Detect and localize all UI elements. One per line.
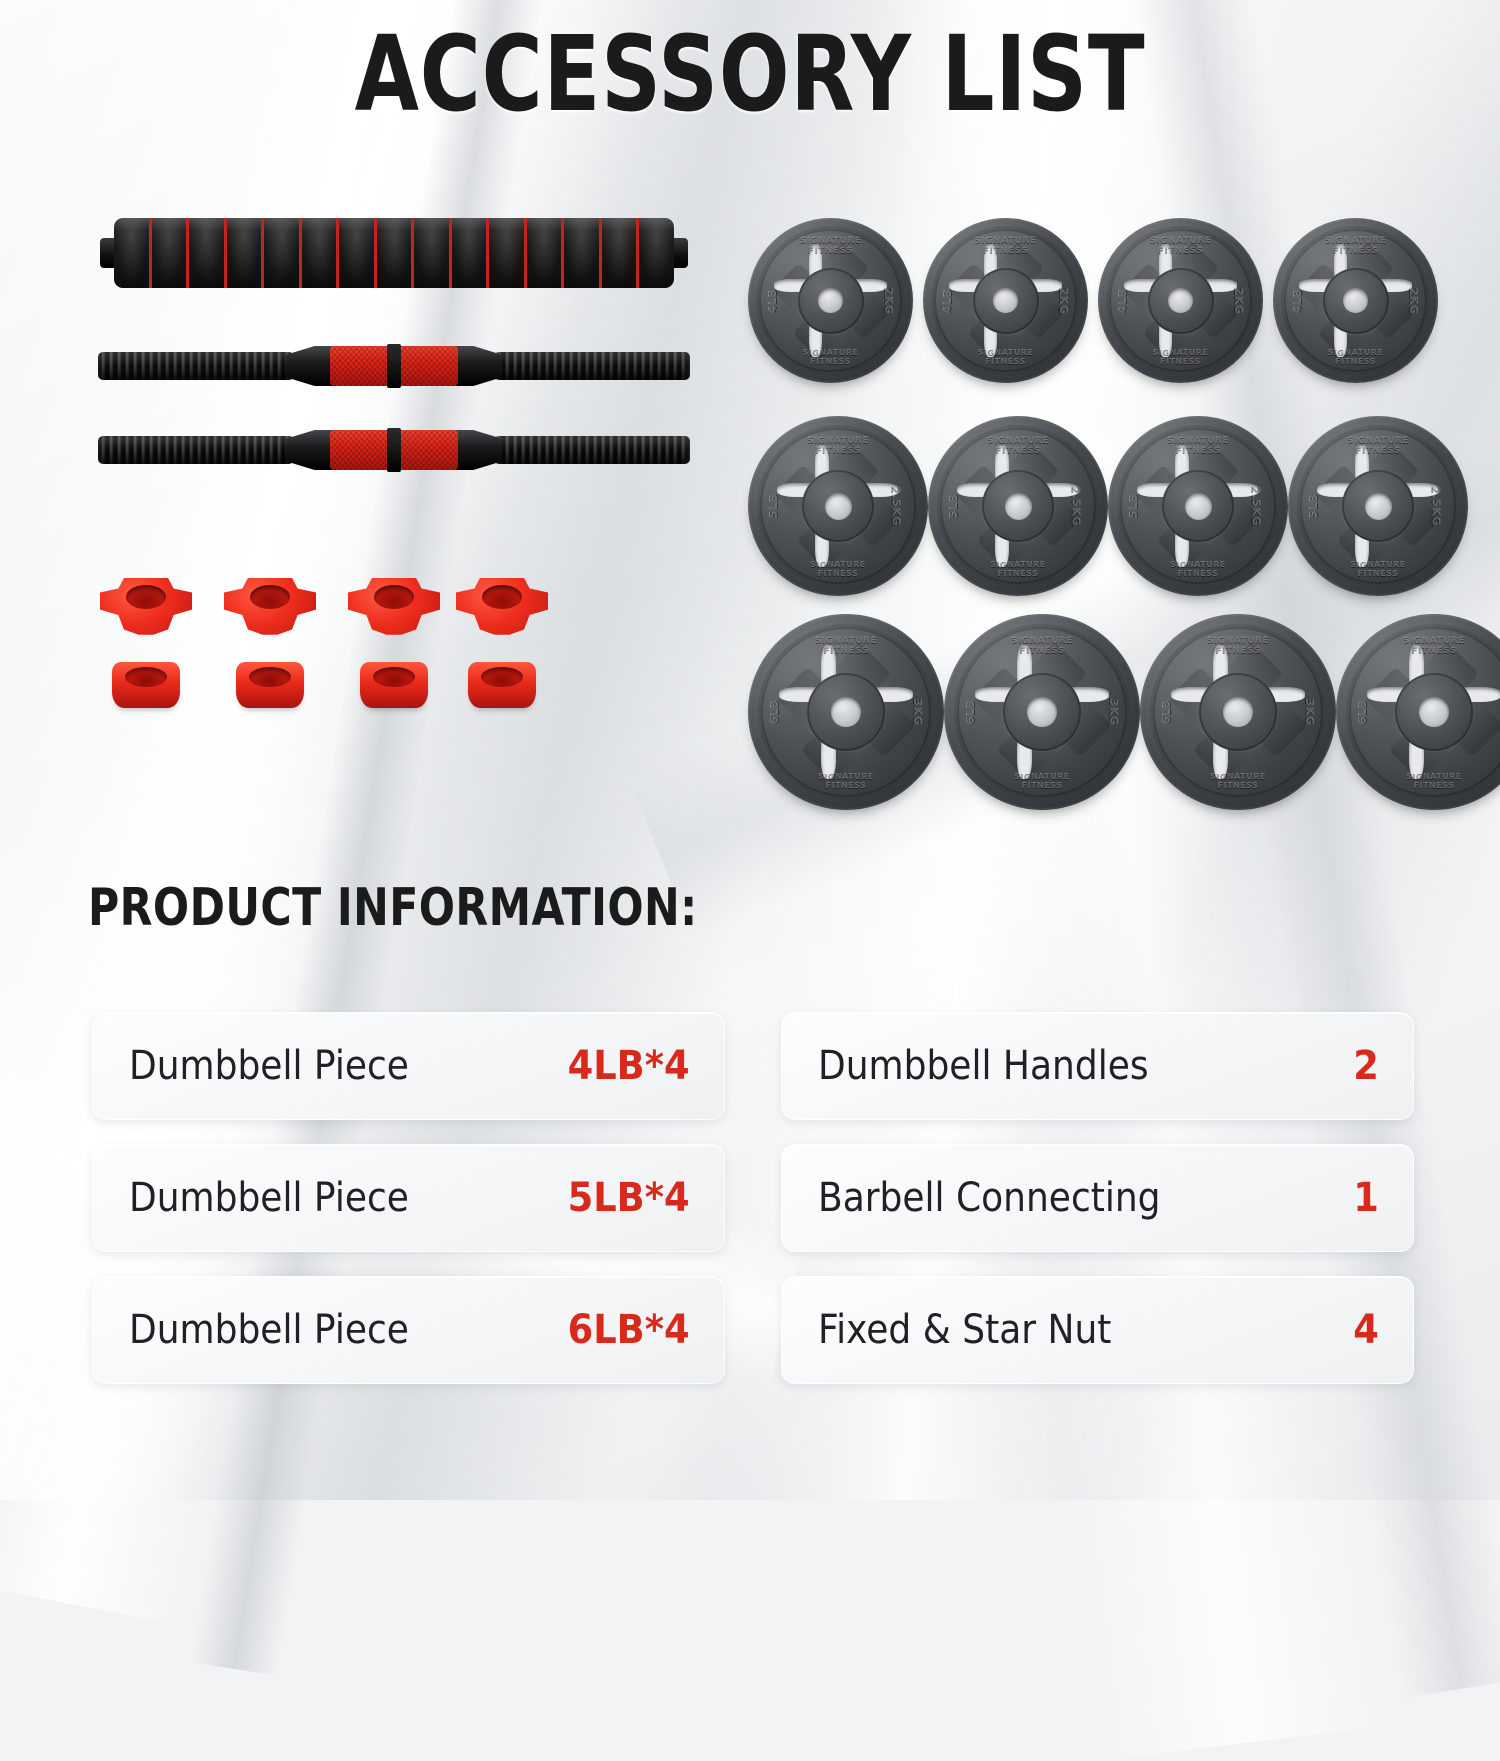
connecting-bar-segment [227, 218, 265, 288]
plate-weight-kg: 2.5KG [1249, 486, 1262, 526]
plate-weight-lb: 5LB [1126, 494, 1139, 519]
plate-center-bore [1005, 493, 1032, 520]
plate-center-bore [825, 493, 852, 520]
weight-plate: SIGNATUREFITNESSSIGNATUREFITNESS5LB2.5KG [928, 416, 1108, 596]
connecting-bar-segment [264, 218, 302, 288]
weight-plate: SIGNATUREFITNESSSIGNATUREFITNESS5LB2.5KG [748, 416, 928, 596]
product-info-label: Dumbbell Piece [129, 1043, 409, 1089]
plate-brand-text: SIGNATUREFITNESS [1140, 772, 1336, 790]
fixed-nut [360, 662, 428, 708]
plate-brand-text: SIGNATUREFITNESS [1108, 560, 1288, 578]
weight-plate-row: SIGNATUREFITNESSSIGNATUREFITNESS4LB2KGSI… [748, 218, 1438, 383]
plate-brand-text: SIGNATUREFITNESS [748, 436, 928, 457]
product-info-card: Dumbbell Piece4LB*4 [92, 1012, 725, 1120]
page-title: ACCESSORY LIST [150, 22, 1350, 126]
fixed-nut [112, 662, 180, 708]
product-information-grid: Dumbbell Piece4LB*4Dumbbell Handles2Dumb… [92, 1012, 1414, 1384]
plate-center-bore [831, 697, 860, 726]
product-info-card: Dumbbell Piece5LB*4 [92, 1144, 725, 1252]
plate-weight-lb: 6LB [964, 700, 977, 725]
plate-center-bore [1168, 288, 1193, 313]
plate-brand-text: SIGNATUREFITNESS [1273, 348, 1438, 366]
product-info-card: Dumbbell Handles2 [781, 1012, 1414, 1120]
product-info-label: Fixed & Star Nut [818, 1307, 1111, 1353]
dumbbell-handle [98, 426, 690, 474]
plate-brand-text: SIGNATUREFITNESS [748, 772, 944, 790]
product-info-card: Dumbbell Piece6LB*4 [92, 1276, 725, 1384]
plate-brand-text: SIGNATUREFITNESS [748, 560, 928, 578]
weight-plate: SIGNATUREFITNESSSIGNATUREFITNESS4LB2KG [1098, 218, 1263, 383]
plate-brand-text: SIGNATUREFITNESS [923, 236, 1088, 257]
plate-center-bore [1343, 288, 1368, 313]
plate-weight-lb: 6LB [768, 700, 781, 725]
connecting-bar-segment [302, 218, 340, 288]
fixed-nut [468, 662, 536, 708]
plate-weight-kg: 2.5KG [889, 486, 902, 526]
product-info-value: 4LB*4 [568, 1043, 690, 1089]
plate-weight-kg: 2KG [1232, 287, 1245, 314]
fixed-nut-bore [373, 667, 415, 687]
plate-weight-lb: 6LB [1160, 700, 1173, 725]
plate-center-bore [1365, 493, 1392, 520]
handle-center-band [387, 428, 401, 472]
star-nut [224, 578, 316, 644]
weight-plate: SIGNATUREFITNESSSIGNATUREFITNESS6LB3KG [1336, 614, 1500, 810]
plate-center-bore [1185, 493, 1212, 520]
connecting-bar-segment [527, 218, 565, 288]
plate-center-bore [993, 288, 1018, 313]
weight-plates-grid: SIGNATUREFITNESSSIGNATUREFITNESS4LB2KGSI… [748, 218, 1438, 818]
product-info-label: Dumbbell Piece [129, 1307, 409, 1353]
plate-weight-lb: 5LB [1306, 494, 1319, 519]
plate-weight-kg: 2.5KG [1429, 486, 1442, 526]
connecting-bar-segment [452, 218, 490, 288]
product-info-value: 4 [1353, 1307, 1379, 1353]
plate-brand-text: SIGNATUREFITNESS [1098, 348, 1263, 366]
plate-weight-lb: 6LB [1356, 700, 1369, 725]
product-info-card: Fixed & Star Nut4 [781, 1276, 1414, 1384]
plate-center-bore [1027, 697, 1056, 726]
plate-brand-text: SIGNATUREFITNESS [1336, 636, 1500, 657]
connecting-bar-segment [114, 218, 152, 288]
product-information-heading: PRODUCT INFORMATION: [88, 878, 698, 938]
plate-weight-kg: 3KG [1106, 699, 1119, 726]
plate-brand-text: SIGNATUREFITNESS [1140, 636, 1336, 657]
nuts-group [100, 578, 570, 708]
star-nut [100, 578, 192, 644]
connecting-bar-segment [564, 218, 602, 288]
weight-plate: SIGNATUREFITNESSSIGNATUREFITNESS5LB2.5KG [1108, 416, 1288, 596]
connecting-bar-segment [489, 218, 527, 288]
product-info-label: Barbell Connecting [818, 1175, 1161, 1221]
plate-brand-text: SIGNATUREFITNESS [1108, 436, 1288, 457]
connecting-bar-segment [339, 218, 377, 288]
handle-threaded-shaft [98, 436, 294, 464]
plate-brand-text: SIGNATUREFITNESS [1288, 436, 1468, 457]
plate-weight-lb: 4LB [940, 288, 953, 313]
plate-weight-lb: 5LB [946, 494, 959, 519]
weight-plate-row: SIGNATUREFITNESSSIGNATUREFITNESS5LB2.5KG… [748, 416, 1438, 596]
fixed-nut-bore [249, 667, 291, 687]
fixed-nut [236, 662, 304, 708]
handle-threaded-shaft [98, 352, 294, 380]
plate-weight-lb: 4LB [1290, 288, 1303, 313]
plate-brand-text: SIGNATUREFITNESS [944, 636, 1140, 657]
connecting-bar-segment [602, 218, 640, 288]
plate-weight-lb: 4LB [1115, 288, 1128, 313]
weight-plate: SIGNATUREFITNESSSIGNATUREFITNESS5LB2.5KG [1288, 416, 1468, 596]
plate-weight-kg: 3KG [1302, 699, 1315, 726]
plate-weight-kg: 2KG [1407, 287, 1420, 314]
connecting-bar-segment [377, 218, 415, 288]
plate-weight-kg: 2KG [882, 287, 895, 314]
fixed-nut-bore [125, 667, 167, 687]
weight-plate-row: SIGNATUREFITNESSSIGNATUREFITNESS6LB3KGSI… [748, 614, 1438, 810]
plate-brand-text: SIGNATUREFITNESS [923, 348, 1088, 366]
product-info-label: Dumbbell Piece [129, 1175, 409, 1221]
product-info-value: 6LB*4 [568, 1307, 690, 1353]
accessory-parts-column [0, 190, 720, 750]
plate-brand-text: SIGNATUREFITNESS [1273, 236, 1438, 257]
handle-center-band [387, 344, 401, 388]
barbell-connecting-bar [100, 218, 688, 288]
weight-plate: SIGNATUREFITNESSSIGNATUREFITNESS4LB2KG [1273, 218, 1438, 383]
plate-brand-text: SIGNATUREFITNESS [928, 560, 1108, 578]
weight-plate: SIGNATUREFITNESSSIGNATUREFITNESS6LB3KG [748, 614, 944, 810]
plate-center-bore [818, 288, 843, 313]
weight-plate: SIGNATUREFITNESSSIGNATUREFITNESS6LB3KG [1140, 614, 1336, 810]
connecting-bar-segment [152, 218, 190, 288]
weight-plate: SIGNATUREFITNESSSIGNATUREFITNESS4LB2KG [748, 218, 913, 383]
product-info-label: Dumbbell Handles [818, 1043, 1149, 1089]
plate-brand-text: SIGNATUREFITNESS [1336, 772, 1500, 790]
fixed-nut-bore [481, 667, 523, 687]
plate-brand-text: SIGNATUREFITNESS [748, 236, 913, 257]
handle-threaded-shaft [494, 352, 690, 380]
connecting-bar-foam-body [114, 218, 674, 288]
plate-brand-text: SIGNATUREFITNESS [1288, 560, 1468, 578]
plate-brand-text: SIGNATUREFITNESS [748, 636, 944, 657]
dumbbell-handle [98, 342, 690, 390]
plate-weight-lb: 4LB [765, 288, 778, 313]
weight-plate: SIGNATUREFITNESSSIGNATUREFITNESS4LB2KG [923, 218, 1088, 383]
plate-brand-text: SIGNATUREFITNESS [1098, 236, 1263, 257]
product-info-value: 5LB*4 [568, 1175, 690, 1221]
star-nut [348, 578, 440, 644]
handle-threaded-shaft [494, 436, 690, 464]
plate-weight-kg: 2.5KG [1069, 486, 1082, 526]
connecting-bar-segment [414, 218, 452, 288]
plate-weight-lb: 5LB [766, 494, 779, 519]
plate-brand-text: SIGNATUREFITNESS [928, 436, 1108, 457]
plate-brand-text: SIGNATUREFITNESS [944, 772, 1140, 790]
product-info-value: 1 [1353, 1175, 1379, 1221]
connecting-bar-segment [189, 218, 227, 288]
connecting-bar-segment [639, 218, 674, 288]
plate-center-bore [1419, 697, 1448, 726]
star-nut [456, 578, 548, 644]
plate-brand-text: SIGNATUREFITNESS [748, 348, 913, 366]
product-info-card: Barbell Connecting1 [781, 1144, 1414, 1252]
plate-center-bore [1223, 697, 1252, 726]
weight-plate: SIGNATUREFITNESSSIGNATUREFITNESS6LB3KG [944, 614, 1140, 810]
product-info-value: 2 [1353, 1043, 1379, 1089]
plate-weight-kg: 3KG [910, 699, 923, 726]
plate-weight-kg: 2KG [1057, 287, 1070, 314]
